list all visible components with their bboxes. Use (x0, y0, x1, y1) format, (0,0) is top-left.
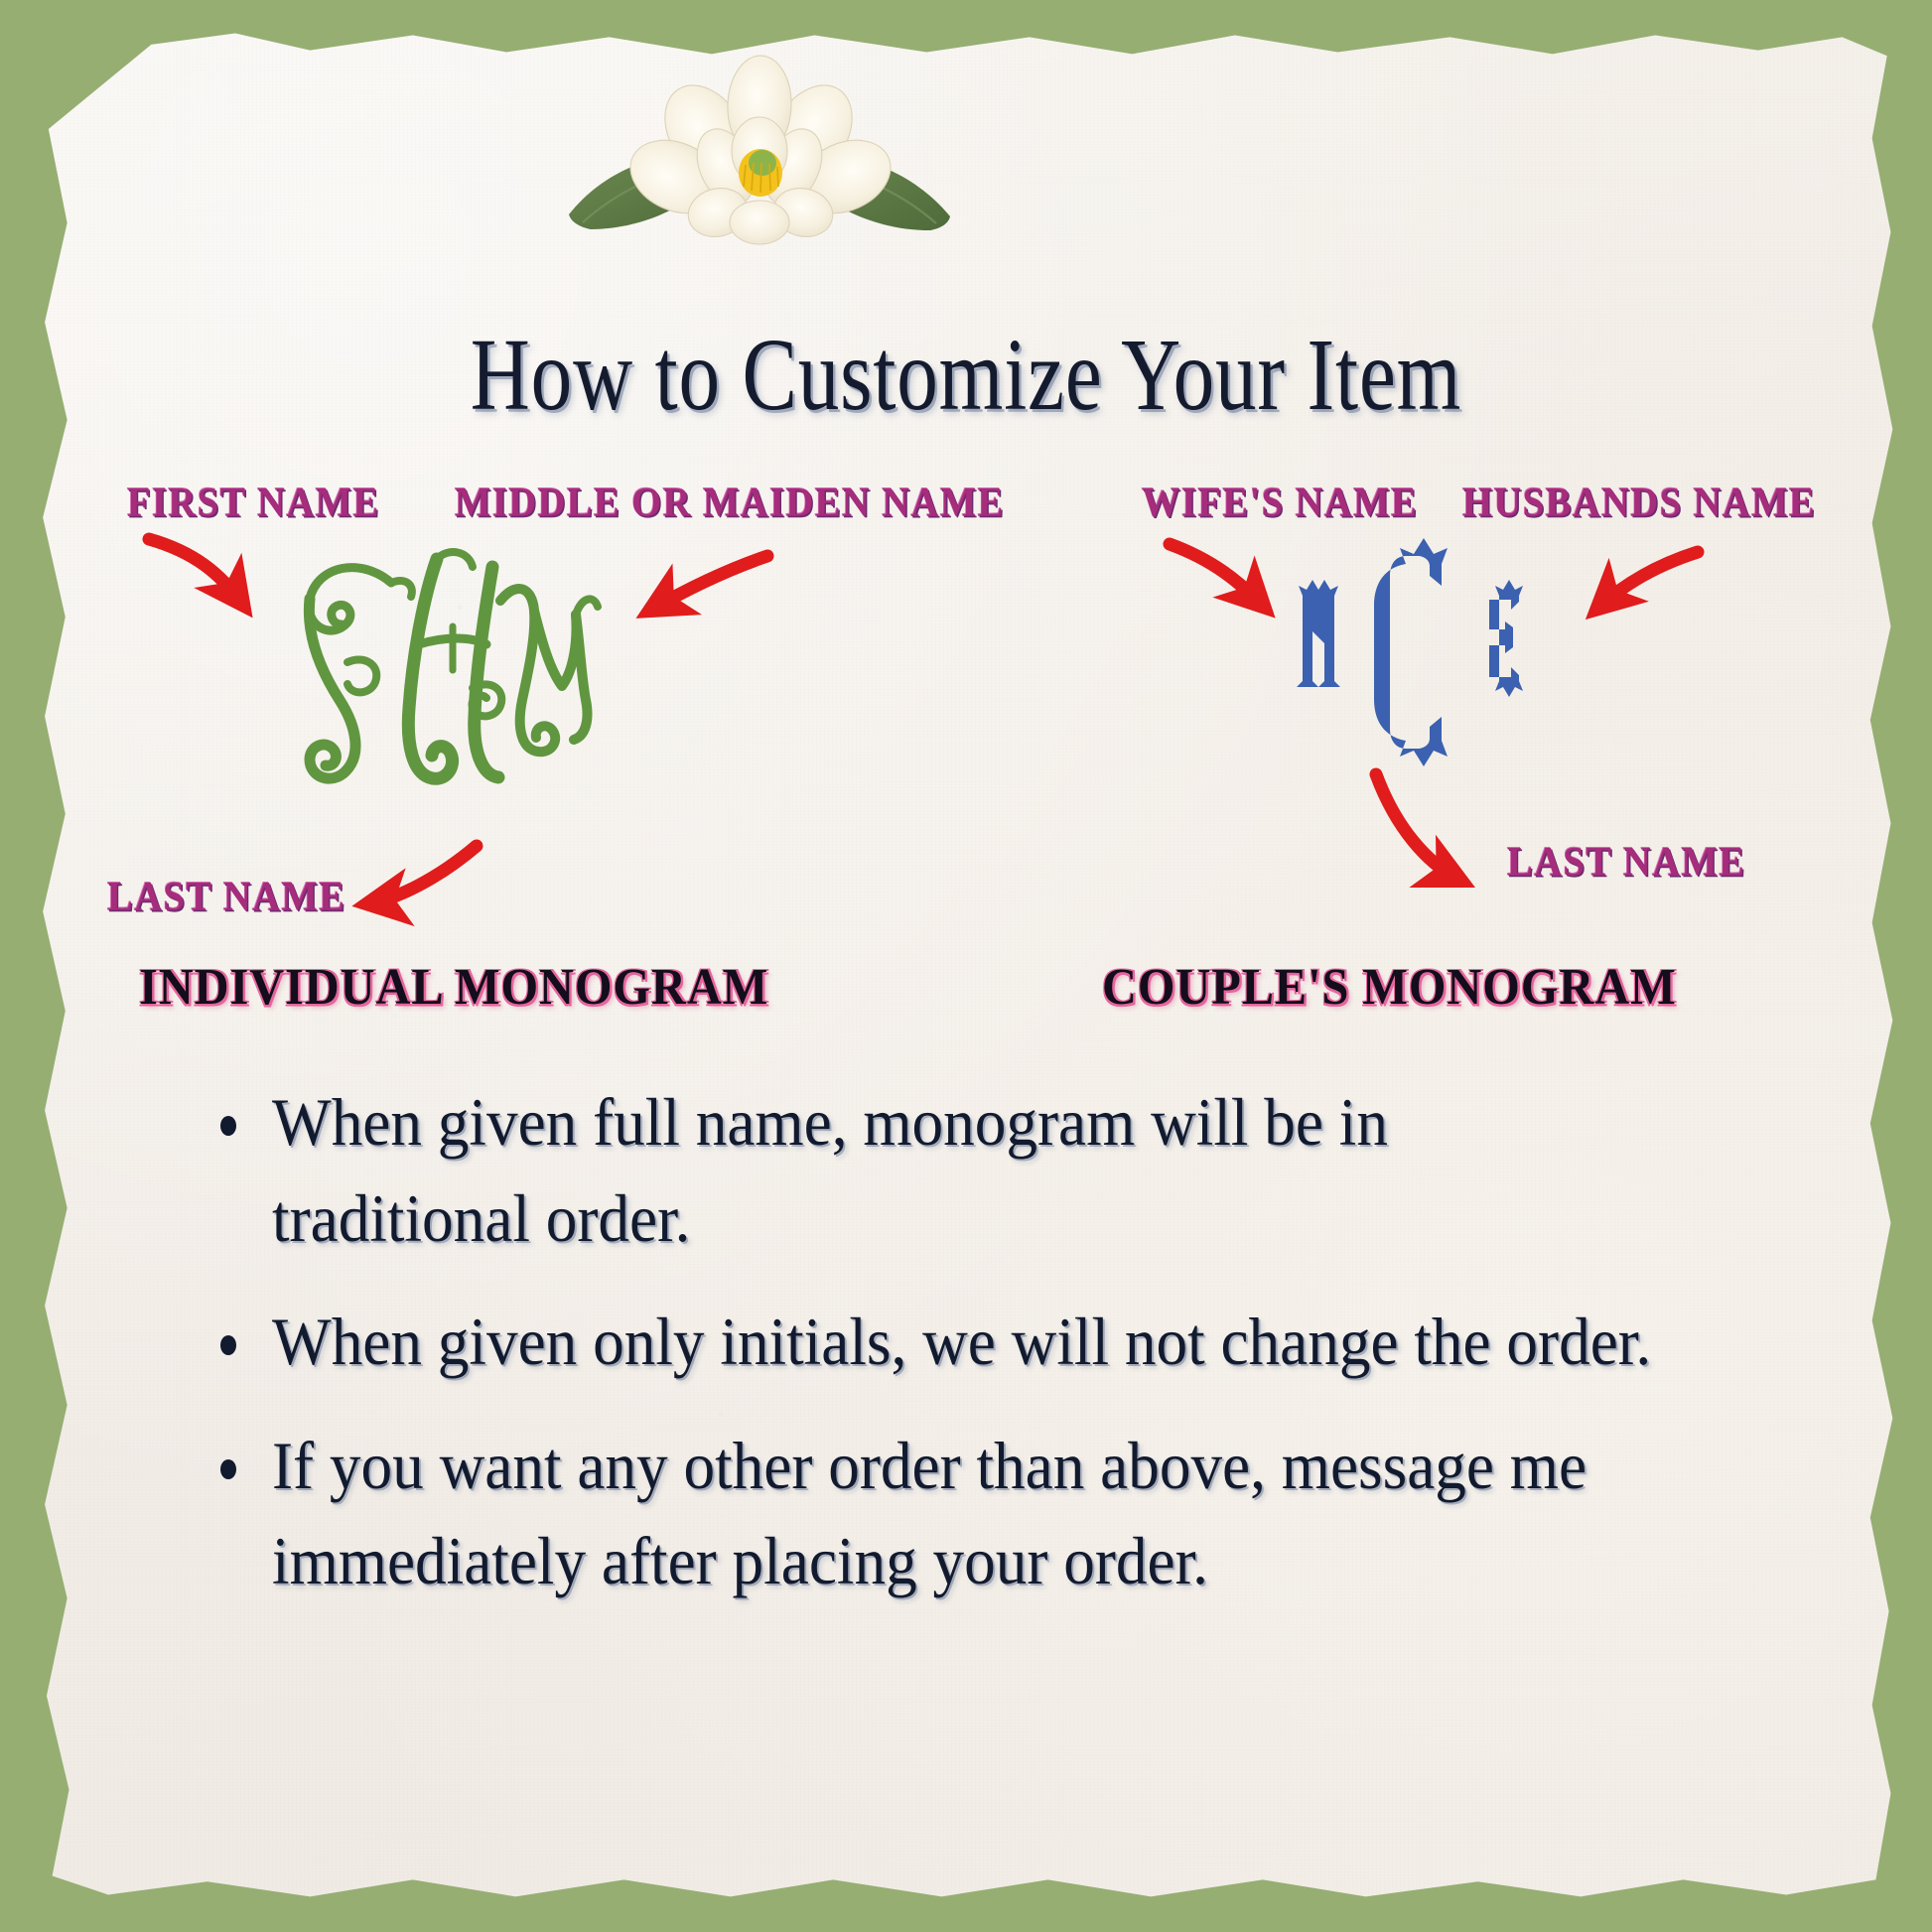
label-husband-name: HUSBANDS NAME (1462, 480, 1816, 527)
list-item: When given full name, monogram will be i… (216, 1074, 1765, 1266)
instruction-list: When given full name, monogram will be i… (216, 1074, 1765, 1637)
label-last-name-left: LAST NAME (107, 874, 345, 921)
arrow-wife-name (1170, 544, 1263, 606)
label-last-name-right: LAST NAME (1507, 839, 1745, 887)
heading-individual-monogram: INDIVIDUAL MONOGRAM (139, 958, 768, 1017)
label-middle-name: MIDDLE OR MAIDEN NAME (455, 480, 1005, 527)
arrow-last-name-left (369, 846, 477, 903)
heading-couple-monogram: COUPLE'S MONOGRAM (1102, 958, 1677, 1017)
label-first-name: FIRST NAME (127, 480, 380, 527)
individual-monogram-graphic (288, 541, 606, 799)
arrow-last-name-right (1376, 774, 1459, 880)
arrow-middle-name (651, 556, 767, 610)
list-item: When given only initials, we will not ch… (216, 1294, 1765, 1390)
list-item-text: When given full name, monogram will be i… (272, 1074, 1661, 1266)
magnolia-flower-icon (561, 48, 958, 256)
arrow-first-name (149, 539, 242, 604)
list-item: If you want any other order than above, … (216, 1418, 1765, 1609)
list-item-text: When given only initials, we will not ch… (272, 1294, 1651, 1390)
infographic-canvas: How to Customize Your Item (0, 0, 1932, 1932)
arrow-husband-name (1598, 552, 1698, 608)
couple-monogram-graphic (1279, 524, 1567, 782)
list-item-text: If you want any other order than above, … (272, 1418, 1661, 1609)
page-title: How to Customize Your Item (194, 316, 1739, 434)
label-wife-name: WIFE'S NAME (1142, 480, 1418, 527)
flower-center (739, 149, 782, 197)
